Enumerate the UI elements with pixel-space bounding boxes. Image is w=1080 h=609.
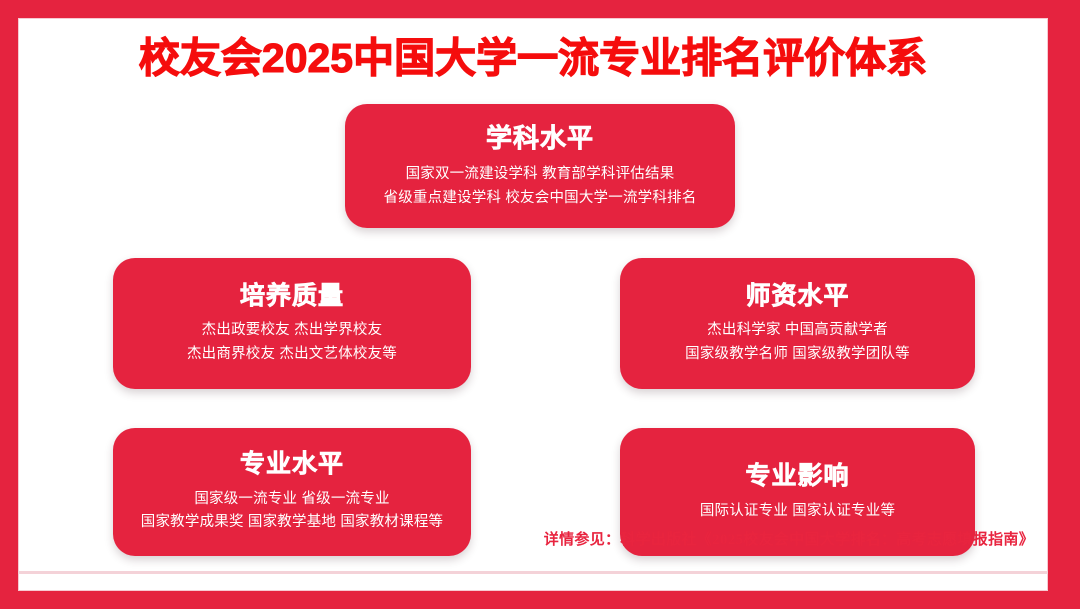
card-discipline-line-1: 国家双一流建设学科 教育部学科评估结果 [384,163,697,186]
card-discipline[interactable]: 学科水平 国家双一流建设学科 教育部学科评估结果 省级重点建设学科 校友会中国大… [345,104,735,228]
card-discipline-line-2: 省级重点建设学科 校友会中国大学一流学科排名 [384,187,697,210]
card-training[interactable]: 培养质量 杰出政要校友 杰出学界校友 杰出商界校友 杰出文艺体校友等 [113,258,471,389]
card-training-title: 培养质量 [240,281,344,312]
card-major-line-1: 国家级一流专业 省级一流专业 [141,488,443,511]
card-faculty-line-2: 国家级教学名师 国家级教学团队等 [685,343,910,366]
card-faculty-line-1: 杰出科学家 中国高贡献学者 [685,319,910,342]
card-training-line-1: 杰出政要校友 杰出学界校友 [187,319,397,342]
footer-source-note: 详情参见：科学出版社《2025校友会中国大学排名：高考志愿填报指南》 [544,528,1034,549]
poster-canvas: 校友会2025中国大学一流专业排名评价体系 学科水平 国家双一流建设学科 教育部… [18,18,1048,591]
card-influence-line-1: 国际认证专业 国家认证专业等 [700,500,895,523]
card-training-line-2: 杰出商界校友 杰出文艺体校友等 [187,343,397,366]
card-discipline-title: 学科水平 [486,122,594,155]
page-title: 校友会2025中国大学一流专业排名评价体系 [18,34,1048,83]
card-faculty[interactable]: 师资水平 杰出科学家 中国高贡献学者 国家级教学名师 国家级教学团队等 [620,258,975,389]
card-faculty-title: 师资水平 [745,281,849,312]
card-influence-lines: 国际认证专业 国家认证专业等 [700,500,895,523]
card-faculty-lines: 杰出科学家 中国高贡献学者 国家级教学名师 国家级教学团队等 [685,319,910,366]
card-influence-title: 专业影响 [745,461,849,492]
card-major-lines: 国家级一流专业 省级一流专业 国家教学成果奖 国家教学基地 国家教材课程等 [141,488,443,535]
card-training-lines: 杰出政要校友 杰出学界校友 杰出商界校友 杰出文艺体校友等 [187,319,397,366]
poster-root: 校友会2025中国大学一流专业排名评价体系 学科水平 国家双一流建设学科 教育部… [0,0,1080,609]
card-major-title: 专业水平 [240,449,344,480]
card-major-line-2: 国家教学成果奖 国家教学基地 国家教材课程等 [141,511,443,534]
footer-divider [18,571,1048,574]
card-discipline-lines: 国家双一流建设学科 教育部学科评估结果 省级重点建设学科 校友会中国大学一流学科… [384,163,697,210]
card-major[interactable]: 专业水平 国家级一流专业 省级一流专业 国家教学成果奖 国家教学基地 国家教材课… [113,428,471,556]
